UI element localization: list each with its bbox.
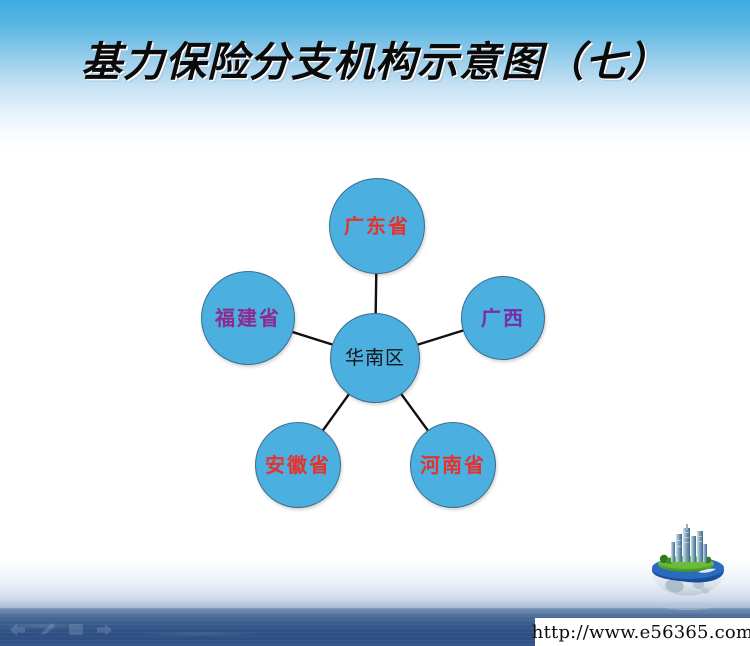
diagram-node-guangdong[interactable]: 广东省 [329, 178, 425, 274]
diagram-node-label-henan: 河南省 [420, 455, 486, 475]
diagram-node-label-center: 华南区 [345, 349, 405, 368]
diagram-node-anhui[interactable]: 安徽省 [255, 422, 341, 508]
connector-center-to-guangdong [376, 273, 377, 314]
earth-city-globe-icon [636, 524, 740, 616]
diagram-node-henan[interactable]: 河南省 [410, 422, 496, 508]
diagram-node-fujian[interactable]: 福建省 [201, 271, 295, 365]
slide-canvas: 基力保险分支机构示意图（七） 广东省福建省广西安徽省河南省华南区 [0, 0, 750, 646]
connector-center-to-henan [401, 394, 428, 432]
diagram-node-label-anhui: 安徽省 [265, 455, 331, 475]
website-url-text: http://www.e56365.com [532, 622, 750, 643]
diagram-node-center[interactable]: 华南区 [330, 313, 420, 403]
connector-center-to-fujian [292, 332, 333, 345]
diagram-node-label-guangxi: 广西 [481, 308, 525, 328]
connector-center-to-anhui [323, 394, 350, 431]
connector-center-to-guangxi [417, 330, 464, 345]
website-url-badge[interactable]: http://www.e56365.com [535, 618, 750, 646]
diagram-node-guangxi[interactable]: 广西 [461, 276, 545, 360]
diagram-node-label-fujian: 福建省 [215, 308, 281, 328]
diagram-node-label-guangdong: 广东省 [344, 216, 410, 236]
